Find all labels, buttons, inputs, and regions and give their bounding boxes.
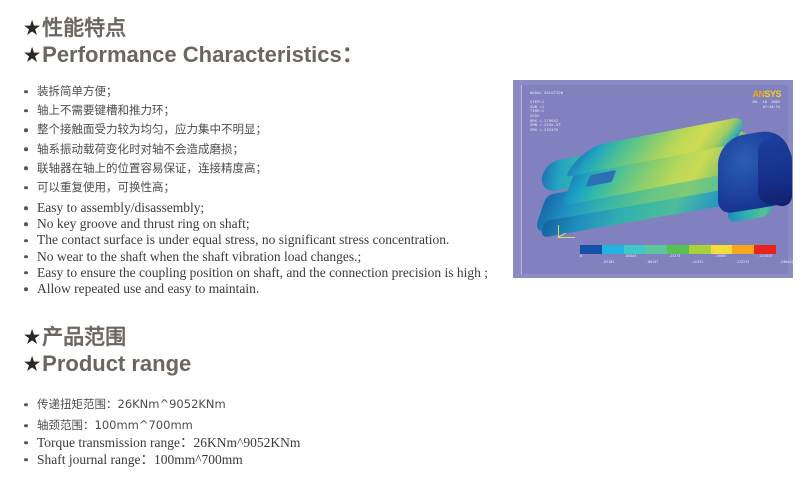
bullet-icon	[24, 271, 28, 275]
list-item: 整个接触面受力较为均匀，应力集中不明显；	[24, 120, 267, 139]
product-range-heading-en: ★Product range	[24, 350, 191, 378]
ansys-fea-image: NODAL SOLUTION STEP=1 SUB =1 TIME=1 SEQV…	[513, 80, 793, 278]
product-range-bullets-cn: 传递扭矩范围：26KNm^9052KNm 轴颈范围：100mm^700mm	[24, 394, 226, 436]
performance-heading-group: ★性能特点 ★Performance Characteristics：	[24, 16, 364, 69]
legend-label: .2c34CR	[758, 254, 772, 258]
list-item: No key groove and thrust ring on shaft;	[24, 216, 488, 232]
performance-bullets-en: Easy to assembly/disassembly; No key gro…	[24, 200, 488, 297]
legend-band	[732, 245, 754, 254]
list-item-label: No wear to the shaft when the shaft vibr…	[37, 249, 361, 264]
list-item-label: No key groove and thrust ring on shaft;	[37, 216, 250, 231]
legend-band	[580, 245, 602, 254]
bullet-icon	[24, 403, 28, 407]
product-range-heading-cn-text: 产品范围	[42, 326, 126, 349]
legend-label: .19085	[714, 254, 726, 258]
list-item-label: 联轴器在轴上的位置容易保证，连接精度高；	[37, 161, 267, 175]
list-item-label: Allow repeated use and easy to maintain.	[37, 281, 259, 296]
bullet-icon	[24, 287, 28, 291]
star-icon: ★	[24, 41, 40, 69]
performance-heading-cn-text: 性能特点	[42, 17, 126, 40]
list-item: Easy to assembly/disassembly;	[24, 200, 488, 216]
list-item-label: 轴颈范围：100mm^700mm	[37, 418, 193, 432]
legend-band	[689, 245, 711, 254]
legend-label: 0	[580, 254, 582, 258]
product-range-bullets-en: Torque transmission range：26KNm^9052KNm …	[24, 434, 300, 468]
bullet-icon	[24, 128, 28, 132]
bullet-icon	[24, 147, 28, 151]
legend-label: .06147	[646, 260, 658, 264]
list-item: 联轴器在轴上的位置容易保证，连接精度高；	[24, 159, 267, 178]
bullet-icon	[24, 167, 28, 171]
bullet-icon	[24, 239, 28, 243]
bullet-icon	[24, 255, 28, 259]
legend-band	[754, 245, 776, 254]
list-item: 传递扭矩范围：26KNm^9052KNm	[24, 394, 226, 415]
list-item-label: 可以重复使用，可换性高；	[37, 180, 175, 194]
list-item-label: Torque transmission range：26KNm^9052KNm	[37, 435, 300, 450]
bullet-icon	[24, 441, 28, 445]
legend-label: .13273	[668, 254, 680, 258]
product-range-heading-en-text: Product range	[42, 351, 191, 376]
legend-band	[624, 245, 646, 254]
fea-canvas: NODAL SOLUTION STEP=1 SUB =1 TIME=1 SEQV…	[521, 85, 788, 274]
legend-label: .246e41	[779, 260, 793, 264]
list-item: 可以重复使用，可换性高；	[24, 178, 267, 197]
star-icon: ★	[24, 325, 40, 350]
list-item: Easy to ensure the coupling position on …	[24, 265, 488, 281]
stress-legend-labels: 0 .054e3 .13273 .19085 .2c34CR .03182 .0…	[574, 254, 789, 262]
list-item: 轴上不需要键槽和推力环；	[24, 101, 267, 120]
star-icon: ★	[24, 350, 40, 378]
bullet-icon	[24, 90, 28, 94]
performance-heading-en-text: Performance Characteristics：	[42, 42, 364, 67]
legend-label: .212272	[735, 260, 749, 264]
list-item-label: Shaft journal range：100mm^700mm	[37, 452, 243, 467]
performance-heading-cn: ★性能特点	[24, 16, 364, 41]
list-item: Torque transmission range：26KNm^9052KNm	[24, 434, 300, 451]
list-item-label: 传递扭矩范围：26KNm^9052KNm	[37, 397, 226, 411]
performance-heading-en: ★Performance Characteristics：	[24, 41, 364, 69]
list-item: 轴系振动载荷变化时对轴不会造成磨损；	[24, 140, 267, 159]
list-item: 装拆简单方便；	[24, 82, 267, 101]
bullet-icon	[24, 109, 28, 113]
product-range-heading-cn: ★产品范围	[24, 325, 191, 350]
list-item-label: Easy to assembly/disassembly;	[37, 200, 204, 215]
axis-triad-icon	[558, 225, 575, 238]
bullet-icon	[24, 186, 28, 190]
list-item: No wear to the shaft when the shaft vibr…	[24, 249, 488, 265]
bullet-icon	[24, 206, 28, 210]
star-icon: ★	[24, 16, 40, 41]
list-item: The contact surface is under equal stres…	[24, 232, 488, 248]
legend-label: .03182	[602, 260, 614, 264]
product-range-heading-group: ★产品范围 ★Product range	[24, 325, 191, 378]
bullet-icon	[24, 458, 28, 462]
legend-label: .1c341	[691, 260, 703, 264]
list-item-label: 轴系振动载荷变化时对轴不会造成磨损；	[37, 142, 244, 156]
list-item-label: 装拆简单方便；	[37, 84, 118, 98]
legend-band	[711, 245, 733, 254]
legend-band	[645, 245, 667, 254]
list-item: Shaft journal range：100mm^700mm	[24, 451, 300, 468]
coupling-hub-face	[758, 136, 792, 208]
list-item: 轴颈范围：100mm^700mm	[24, 415, 226, 436]
list-item-label: 轴上不需要键槽和推力环；	[37, 103, 175, 117]
bullet-icon	[24, 424, 28, 428]
list-item-label: Easy to ensure the coupling position on …	[37, 265, 488, 280]
stress-color-legend	[580, 245, 776, 254]
legend-band	[602, 245, 624, 254]
list-item-label: 整个接触面受力较为均匀，应力集中不明显；	[37, 122, 267, 136]
page-root: ★性能特点 ★Performance Characteristics： 装拆简单…	[0, 0, 811, 477]
list-item-label: The contact surface is under equal stres…	[37, 232, 449, 247]
bullet-icon	[24, 223, 28, 227]
legend-band	[667, 245, 689, 254]
legend-label: .054e3	[624, 254, 636, 258]
list-item: Allow repeated use and easy to maintain.	[24, 281, 488, 297]
performance-bullets-cn: 装拆简单方便； 轴上不需要键槽和推力环； 整个接触面受力较为均匀，应力集中不明显…	[24, 82, 267, 197]
